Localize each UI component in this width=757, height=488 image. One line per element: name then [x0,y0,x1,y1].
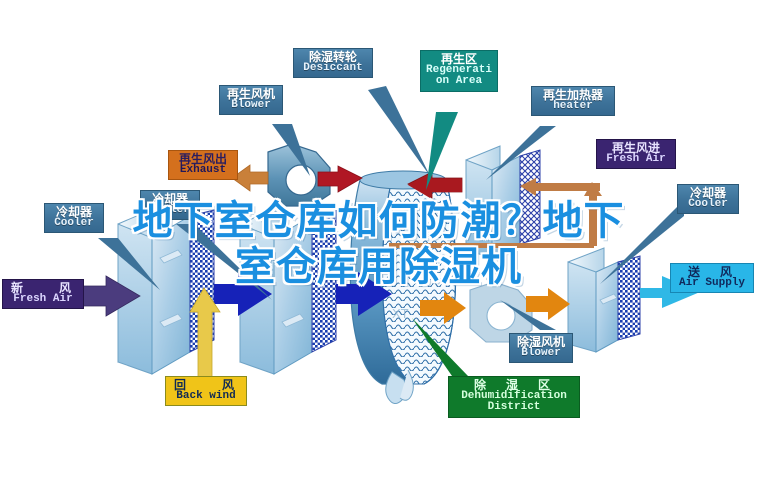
label-back-wind[interactable]: 回 风 Back wind [165,376,247,406]
label-desiccant-wheel-en: Desiccant [299,63,367,74]
label-regen-exhaust-en: Exhaust [174,165,232,176]
dehumidifier-schematic-image: XT [0,0,757,488]
label-regen-blower-en: Blower [225,100,277,111]
label-regen-fresh-air[interactable]: 再生风进 Fresh Air [596,139,676,169]
label-cooler-left-2[interactable]: 冷却器 Cooler [140,190,200,220]
diagram-graphics: XT [0,0,757,488]
label-dehum-blower-en: Blower [515,348,567,359]
label-dehum-district-en2: District [454,402,574,413]
label-cooler-left-2-en: Cooler [146,205,194,216]
label-regen-blower[interactable]: 再生风机 Blower [219,85,283,115]
blower-out-arrow [526,288,570,320]
label-fresh-air[interactable]: 新 风 Fresh Air [2,279,84,309]
label-cooler-right[interactable]: 冷却器 Cooler [677,184,739,214]
label-regen-fresh-air-en: Fresh Air [602,154,670,165]
label-cooler-left-1[interactable]: 冷却器 Cooler [44,203,104,233]
label-regen-area[interactable]: 再生区 Regenerati on Area [420,50,498,92]
label-cooler-right-en: Cooler [683,199,733,210]
label-regen-exhaust[interactable]: 再生风出 Exhaust [168,150,238,180]
label-regen-heater[interactable]: 再生加热器 heater [531,86,615,116]
label-air-supply[interactable]: 送 风 Air Supply [670,263,754,293]
label-regen-area-en2: on Area [426,76,492,87]
label-desiccant-wheel[interactable]: 除湿转轮 Desiccant [293,48,373,78]
label-back-wind-en: Back wind [171,391,241,402]
supply-coil-unit [568,248,640,352]
label-dehum-district[interactable]: 除 湿 区 Dehumidification District [448,376,580,418]
watermark-text: XT [392,306,409,321]
label-cooler-left-1-en: Cooler [50,218,98,229]
regen-heater-unit [466,146,540,258]
label-fresh-air-en: Fresh Air [8,294,78,305]
label-air-supply-en: Air Supply [676,278,748,289]
label-dehum-blower[interactable]: 除湿风机 Blower [509,333,573,363]
label-regen-heater-en: heater [537,101,609,112]
